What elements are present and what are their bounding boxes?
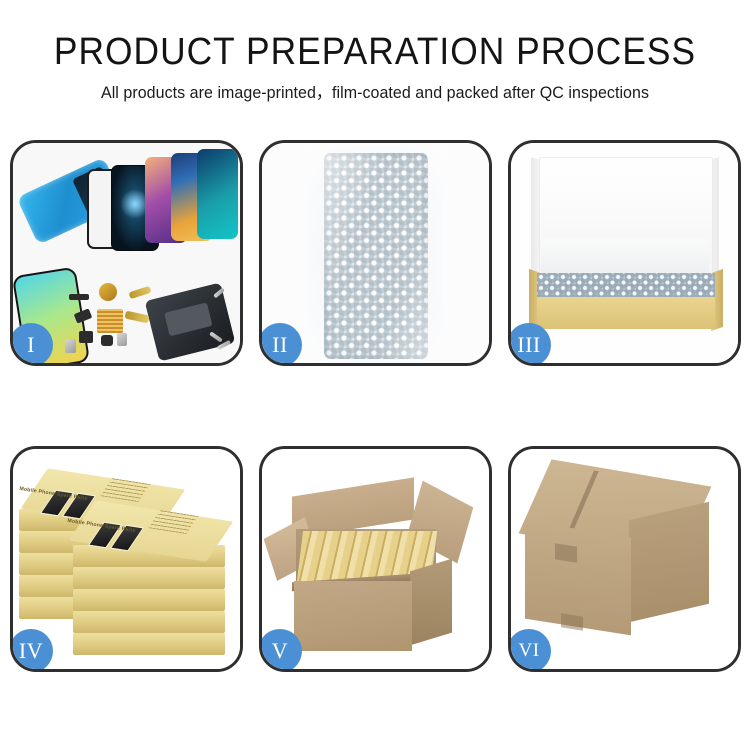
phone-back-housing-image xyxy=(145,282,236,361)
step-badge-5: V xyxy=(259,629,302,672)
step-badge-3: III xyxy=(508,323,551,366)
stacked-box-edge-10 xyxy=(73,633,225,655)
teal-phone-image xyxy=(197,149,238,239)
part-flex-cable-2 xyxy=(124,311,149,324)
part-speaker xyxy=(79,331,93,343)
step-badge-1: I xyxy=(10,323,53,366)
page-subtitle: All products are image-printed，film-coat… xyxy=(11,73,739,103)
step-badge-2: II xyxy=(259,323,302,366)
stacked-box-edge-8 xyxy=(73,589,225,611)
step-badge-4: IV xyxy=(10,629,53,672)
step-card-4[interactable]: Mobile Phone Spare Parts Mobile Phone Sp… xyxy=(10,446,243,672)
bubble-wrap-sheen xyxy=(324,153,428,359)
box-inner-bubble-wrap-image xyxy=(537,273,715,299)
step-card-1[interactable]: I xyxy=(10,140,243,366)
step-card-2[interactable]: II xyxy=(259,140,492,366)
carton-front-panel-image xyxy=(294,581,412,651)
part-gold-coil xyxy=(99,283,117,301)
step-card-6[interactable]: VI xyxy=(508,446,741,672)
part-chip-1 xyxy=(69,294,89,300)
part-flex-cable-1 xyxy=(128,286,151,299)
step-badge-6: VI xyxy=(508,629,551,672)
page-title: PRODUCT PREPARATION PROCESS xyxy=(26,0,724,73)
step-card-3[interactable]: III xyxy=(508,140,741,366)
sealed-carton-side-image xyxy=(629,502,709,622)
box-front-panel-image xyxy=(537,297,715,329)
part-battery-connector xyxy=(65,339,76,353)
part-button xyxy=(101,335,113,346)
sealed-carton-tab-bottom xyxy=(561,613,583,630)
process-steps-grid: I II III xyxy=(10,140,742,672)
part-connector-grid xyxy=(97,309,123,333)
step-card-5[interactable]: V xyxy=(259,446,492,672)
stacked-box-edge-9 xyxy=(73,611,225,633)
sealed-carton-tab-top xyxy=(555,543,577,562)
stacked-box-edge-7 xyxy=(73,567,225,589)
page-header: PRODUCT PREPARATION PROCESS All products… xyxy=(0,0,750,103)
carton-side-panel-image xyxy=(410,559,452,646)
part-sim-tray xyxy=(117,333,127,346)
